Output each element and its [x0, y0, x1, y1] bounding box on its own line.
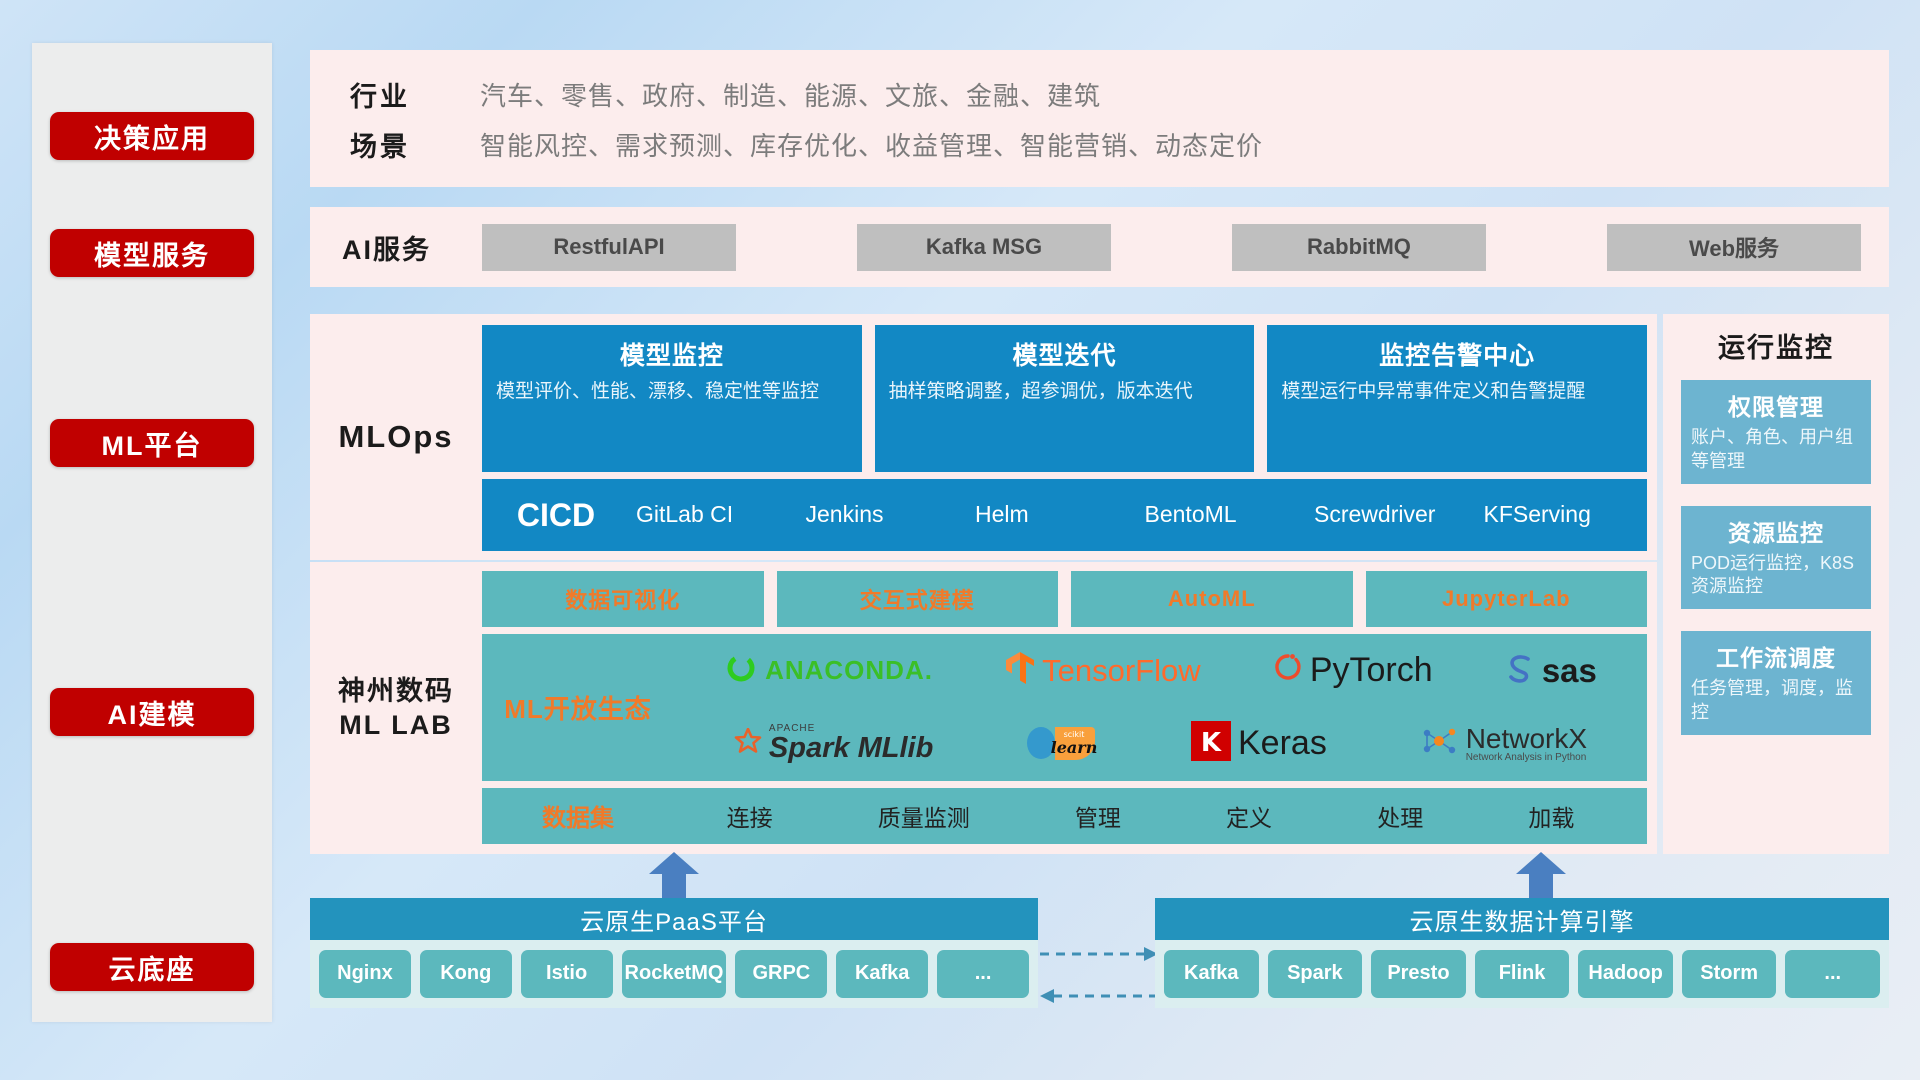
cicd-item-bentoml[interactable]: BentoML — [1139, 502, 1309, 528]
card-title: 工作流调度 — [1691, 639, 1861, 673]
ml-lab-tool-list: 数据可视化 交互式建模 AutoML JupyterLab — [482, 571, 1647, 627]
layer-chip-ai-modeling[interactable]: AI建模 — [50, 688, 254, 736]
data-chip-kafka[interactable]: Kafka — [1164, 950, 1259, 998]
sas-logo: sas — [1505, 652, 1597, 690]
layer-chip-ml-platform[interactable]: ML平台 — [50, 419, 254, 467]
mlops-card-alert-center[interactable]: 监控告警中心 模型运行中异常事件定义和告警提醒 — [1267, 325, 1647, 472]
spark-star-icon — [734, 728, 762, 759]
layer-chip-label: 云底座 — [109, 948, 196, 987]
mlops-card-model-iteration[interactable]: 模型迭代 抽样策略调整，超参调优，版本迭代 — [875, 325, 1255, 472]
scikit-learn-icon: scikitlearn — [1025, 721, 1099, 766]
mlops-card-list: 模型监控 模型评价、性能、漂移、稳定性等监控 模型迭代 抽样策略调整，超参调优，… — [482, 325, 1647, 472]
spark-mllib-wordmark: Spark MLlib — [769, 734, 933, 763]
layer-chip-model-service[interactable]: 模型服务 — [50, 229, 254, 277]
ai-service-chip-list: RestfulAPI Kafka MSG RabbitMQ Web服务 — [482, 224, 1889, 271]
ml-ecosystem-row: ML开放生态 ANACONDA. Tenso — [482, 634, 1647, 780]
tensorflow-icon — [1005, 650, 1035, 691]
ai-service-chip-restfulapi[interactable]: RestfulAPI — [482, 224, 736, 271]
cloud-native-data-engine-group: 云原生数据计算引擎 Kafka Spark Presto Flink Hadoo… — [1155, 898, 1889, 1008]
cloud-chip-nginx[interactable]: Nginx — [319, 950, 411, 998]
cicd-item-helm[interactable]: Helm — [969, 502, 1139, 528]
run-monitor-card-workflow[interactable]: 工作流调度 任务管理，调度，监控 — [1681, 631, 1871, 735]
cicd-item-kfserving[interactable]: KFServing — [1478, 502, 1648, 528]
run-monitor-title: 运行监控 — [1681, 326, 1871, 365]
layer-chip-label: ML平台 — [102, 424, 203, 463]
networkx-tagline: Network Analysis in Python — [1466, 753, 1587, 764]
ai-service-panel: AI服务 RestfulAPI Kafka MSG RabbitMQ Web服务 — [310, 207, 1889, 287]
data-chip-hadoop[interactable]: Hadoop — [1578, 950, 1673, 998]
dataset-item-processing[interactable]: 处理 — [1377, 799, 1423, 833]
ai-service-chip-rabbitmq[interactable]: RabbitMQ — [1232, 224, 1486, 271]
card-description: 任务管理，调度，监控 — [1691, 677, 1861, 725]
networkx-icon — [1419, 723, 1459, 764]
data-chip-storm[interactable]: Storm — [1682, 950, 1777, 998]
cloud-chip-rocketmq[interactable]: RocketMQ — [622, 950, 727, 998]
scenario-row: 场景 智能风控、需求预测、库存优化、收益管理、智能营销、动态定价 — [350, 119, 1889, 169]
cicd-item-list: GitLab CI Jenkins Helm BentoML Screwdriv… — [630, 502, 1647, 528]
keras-wordmark: Keras — [1238, 724, 1327, 763]
layer-chip-cloud-base[interactable]: 云底座 — [50, 943, 254, 991]
cloud-native-paas-group: 云原生PaaS平台 Nginx Kong Istio RocketMQ GRPC… — [310, 898, 1038, 1008]
dataset-item-management[interactable]: 管理 — [1075, 799, 1121, 833]
cicd-item-gitlab-ci[interactable]: GitLab CI — [630, 502, 800, 528]
tool-chip-data-visualization[interactable]: 数据可视化 — [482, 571, 764, 627]
data-chip-flink[interactable]: Flink — [1475, 950, 1570, 998]
cloud-paas-title: 云原生PaaS平台 — [310, 898, 1038, 940]
up-arrow-data-engine-icon — [1514, 852, 1568, 898]
ml-ecosystem-label: ML开放生态 — [482, 689, 674, 726]
bidirectional-dashed-arrows-icon — [1040, 940, 1160, 1010]
cicd-item-screwdriver[interactable]: Screwdriver — [1308, 502, 1478, 528]
cicd-bar: CICD GitLab CI Jenkins Helm BentoML Scre… — [482, 479, 1647, 551]
layer-chip-label: 模型服务 — [94, 234, 210, 273]
decision-rows: 行业 汽车、零售、政府、制造、能源、文旅、金融、建筑 场景 智能风控、需求预测、… — [310, 50, 1889, 169]
svg-text:K: K — [1201, 728, 1222, 758]
keras-logo: K Keras — [1191, 721, 1327, 766]
pytorch-icon — [1273, 651, 1303, 690]
cicd-item-jenkins[interactable]: Jenkins — [800, 502, 970, 528]
ai-service-chip-web-service[interactable]: Web服务 — [1607, 224, 1861, 271]
layer-column: 决策应用 模型服务 ML平台 AI建模 云底座 — [32, 43, 272, 1022]
tensorflow-wordmark: TensorFlow — [1042, 653, 1201, 689]
dataset-item-list: 连接 质量监测 管理 定义 处理 加载 — [674, 799, 1647, 833]
scenario-value: 智能风控、需求预测、库存优化、收益管理、智能营销、动态定价 — [480, 126, 1263, 163]
layer-chip-decision[interactable]: 决策应用 — [50, 112, 254, 160]
anaconda-wordmark: ANACONDA. — [765, 655, 933, 686]
tool-chip-jupyterlab[interactable]: JupyterLab — [1366, 571, 1648, 627]
cloud-chip-kong[interactable]: Kong — [420, 950, 512, 998]
dataset-item-quality-monitoring[interactable]: 质量监测 — [878, 799, 970, 833]
tensorflow-logo: TensorFlow — [1005, 650, 1201, 691]
svg-text:learn: learn — [1051, 738, 1098, 757]
spark-mllib-logo: APACHE Spark MLlib — [734, 724, 933, 763]
networkx-wordmark: NetworkX — [1466, 724, 1587, 753]
card-title: 模型监控 — [496, 336, 848, 372]
pytorch-logo: PyTorch — [1273, 651, 1433, 690]
networkx-wordmark-block: NetworkX Network Analysis in Python — [1466, 724, 1587, 764]
mlops-panel: MLOps 模型监控 模型评价、性能、漂移、稳定性等监控 模型迭代 抽样策略调整… — [310, 314, 1657, 560]
mlops-card-model-monitoring[interactable]: 模型监控 模型评价、性能、漂移、稳定性等监控 — [482, 325, 862, 472]
ml-lab-label-en: ML LAB — [339, 708, 453, 742]
up-arrow-paas-icon — [647, 852, 701, 898]
card-description: 抽样策略调整，超参调优，版本迭代 — [889, 379, 1241, 405]
ml-lab-label-cn: 神州数码 — [338, 674, 454, 708]
layer-chip-label: 决策应用 — [94, 117, 210, 156]
scikit-learn-logo: scikitlearn — [1025, 721, 1099, 766]
industry-row: 行业 汽车、零售、政府、制造、能源、文旅、金融、建筑 — [350, 69, 1889, 119]
sas-wordmark: sas — [1542, 652, 1597, 690]
dataset-item-definition[interactable]: 定义 — [1226, 799, 1272, 833]
cloud-data-engine-title: 云原生数据计算引擎 — [1155, 898, 1889, 940]
logo-line-2: APACHE Spark MLlib scikitlearn K — [674, 707, 1647, 780]
run-monitor-panel: 运行监控 权限管理 账户、角色、用户组等管理 资源监控 POD运行监控，K8S资… — [1663, 314, 1889, 854]
logo-line-1: ANACONDA. TensorFlow PyTorch — [674, 634, 1647, 707]
mlops-label: MLOps — [310, 314, 482, 560]
ml-ecosystem-logo-grid: ANACONDA. TensorFlow PyTorch — [674, 634, 1647, 780]
sas-icon — [1505, 652, 1535, 689]
data-chip-presto[interactable]: Presto — [1371, 950, 1466, 998]
data-chip-spark[interactable]: Spark — [1268, 950, 1363, 998]
cloud-chip-more[interactable]: ... — [937, 950, 1029, 998]
dataset-label: 数据集 — [482, 798, 674, 833]
card-title: 权限管理 — [1691, 388, 1861, 422]
tool-chip-interactive-modeling[interactable]: 交互式建模 — [777, 571, 1059, 627]
industry-key: 行业 — [350, 75, 480, 114]
dataset-row: 数据集 连接 质量监测 管理 定义 处理 加载 — [482, 788, 1647, 844]
dataset-item-connect[interactable]: 连接 — [727, 799, 773, 833]
anaconda-icon — [724, 651, 758, 690]
cloud-chip-grpc[interactable]: GRPC — [735, 950, 827, 998]
decision-application-panel: 行业 汽车、零售、政府、制造、能源、文旅、金融、建筑 场景 智能风控、需求预测、… — [310, 50, 1889, 187]
networkx-logo: NetworkX Network Analysis in Python — [1419, 723, 1587, 764]
tool-chip-automl[interactable]: AutoML — [1071, 571, 1353, 627]
ml-lab-label: 神州数码 ML LAB — [310, 562, 482, 854]
card-description: 模型评价、性能、漂移、稳定性等监控 — [496, 379, 848, 405]
mlops-content: 模型监控 模型评价、性能、漂移、稳定性等监控 模型迭代 抽样策略调整，超参调优，… — [482, 314, 1657, 560]
spark-wordmark-block: APACHE Spark MLlib — [769, 724, 933, 763]
card-title: 监控告警中心 — [1281, 336, 1633, 372]
data-chip-more[interactable]: ... — [1785, 950, 1880, 998]
cloud-data-engine-chip-list: Kafka Spark Presto Flink Hadoop Storm ..… — [1155, 940, 1889, 1008]
ai-service-chip-kafka-msg[interactable]: Kafka MSG — [857, 224, 1111, 271]
cicd-label: CICD — [482, 497, 630, 534]
card-description: 模型运行中异常事件定义和告警提醒 — [1281, 379, 1633, 405]
keras-icon: K — [1191, 721, 1231, 766]
card-title: 资源监控 — [1691, 514, 1861, 548]
run-monitor-card-resource[interactable]: 资源监控 POD运行监控，K8S资源监控 — [1681, 506, 1871, 610]
ai-service-label: AI服务 — [310, 228, 482, 267]
layer-chip-label: AI建模 — [108, 693, 197, 732]
ml-lab-content: 数据可视化 交互式建模 AutoML JupyterLab ML开放生态 ANA… — [482, 562, 1657, 854]
scenario-key: 场景 — [350, 125, 480, 164]
ml-lab-panel: 神州数码 ML LAB 数据可视化 交互式建模 AutoML JupyterLa… — [310, 562, 1657, 854]
industry-value: 汽车、零售、政府、制造、能源、文旅、金融、建筑 — [480, 76, 1101, 113]
run-monitor-card-permission[interactable]: 权限管理 账户、角色、用户组等管理 — [1681, 380, 1871, 484]
card-title: 模型迭代 — [889, 336, 1241, 372]
cloud-chip-istio[interactable]: Istio — [521, 950, 613, 998]
card-description: 账户、角色、用户组等管理 — [1691, 426, 1861, 474]
pytorch-wordmark: PyTorch — [1310, 651, 1433, 690]
dataset-item-loading[interactable]: 加载 — [1528, 799, 1574, 833]
cloud-chip-kafka[interactable]: Kafka — [836, 950, 928, 998]
cloud-paas-chip-list: Nginx Kong Istio RocketMQ GRPC Kafka ... — [310, 940, 1038, 1008]
card-description: POD运行监控，K8S资源监控 — [1691, 552, 1861, 600]
anaconda-logo: ANACONDA. — [724, 651, 933, 690]
